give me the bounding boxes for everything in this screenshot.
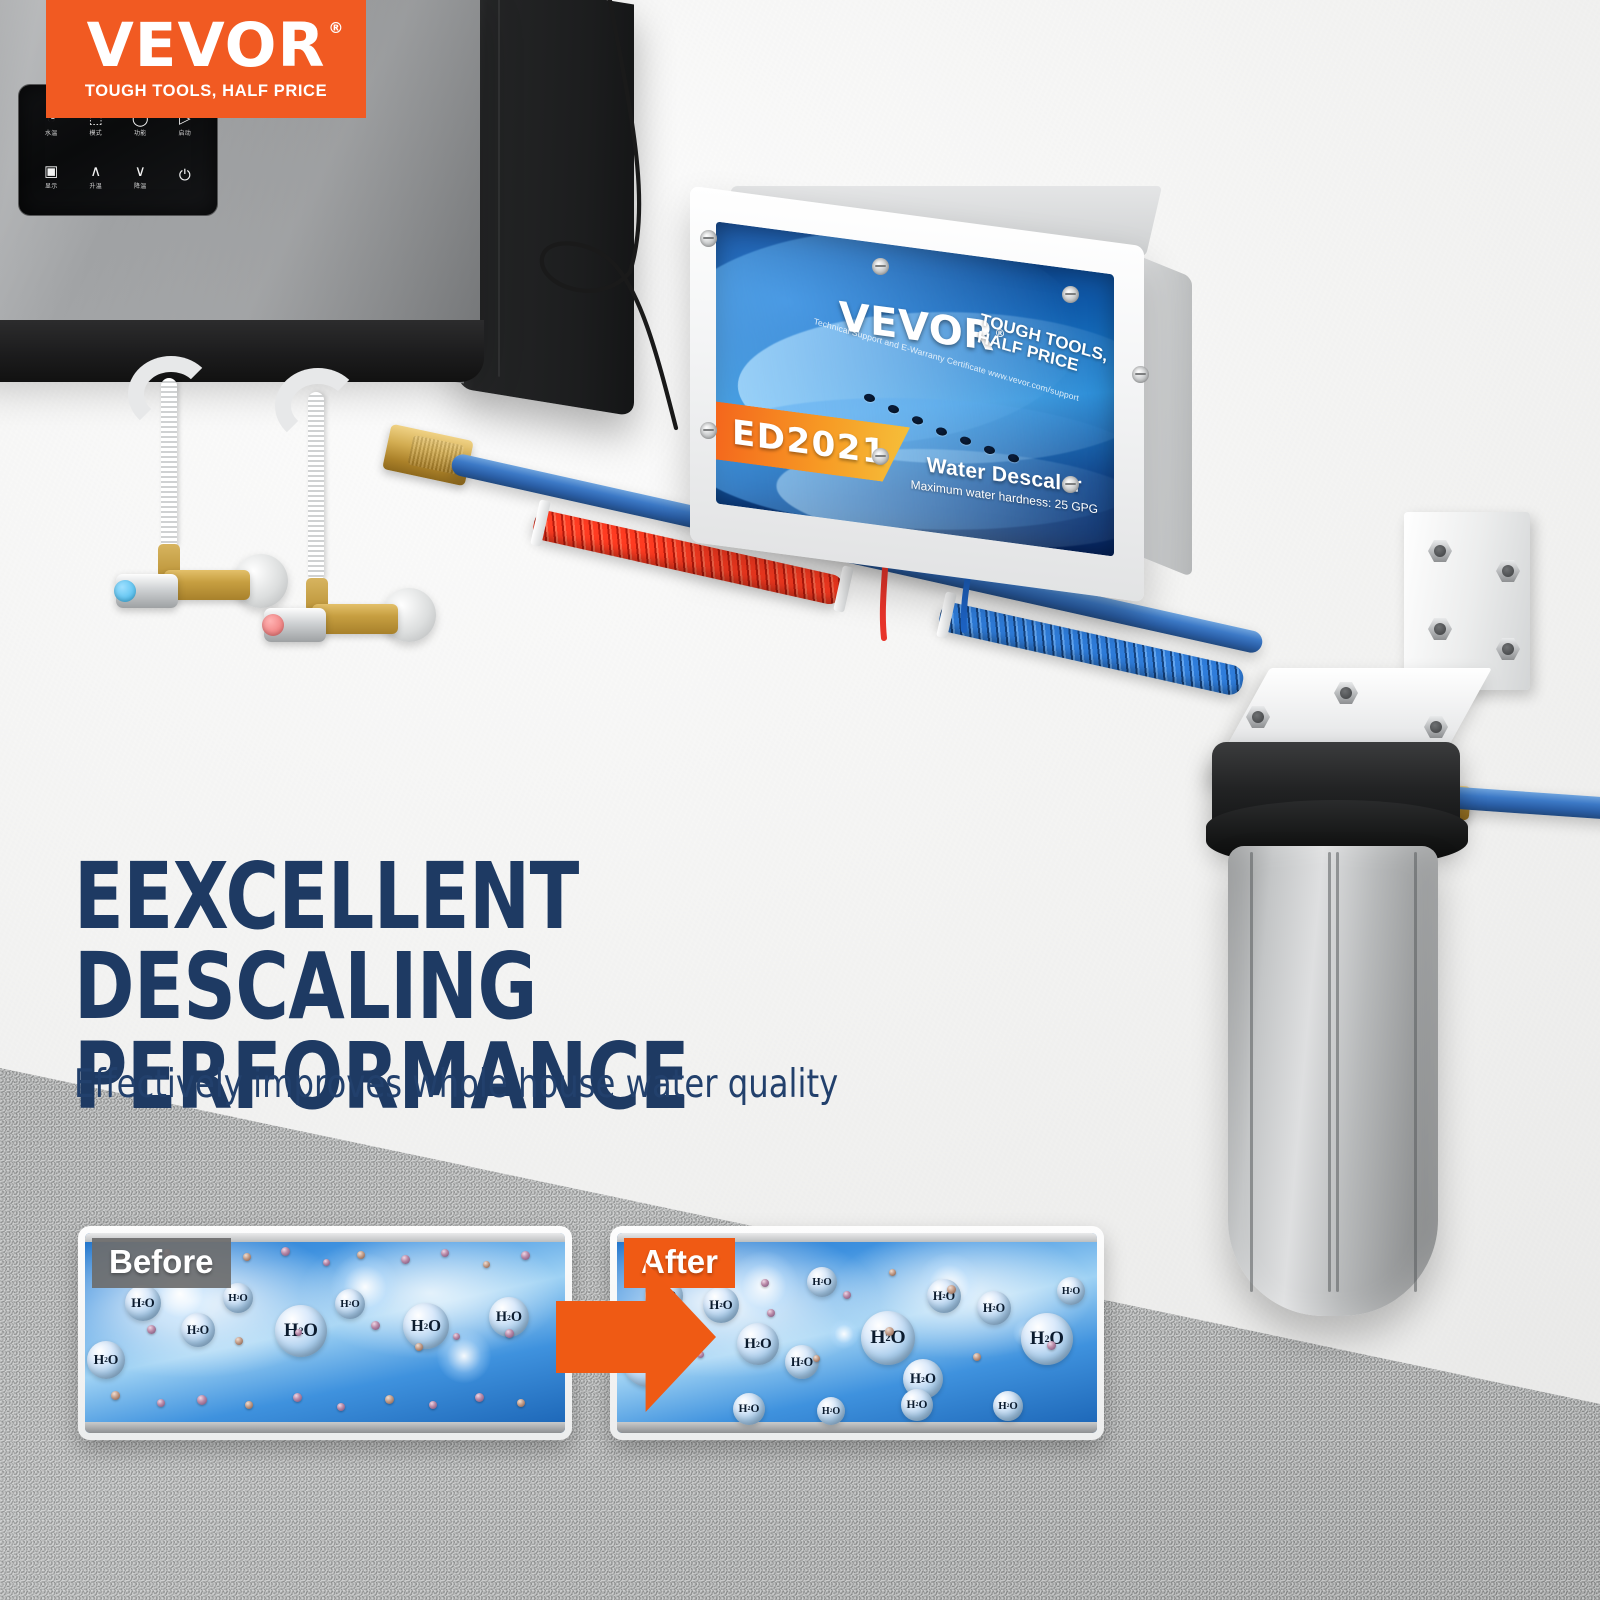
water-molecule: H2O [807,1267,837,1297]
water-molecule: H2O [817,1397,845,1425]
mineral-particle [761,1279,769,1287]
mineral-particle [521,1251,530,1260]
braided-hose-hot [308,392,324,582]
mineral-particle [885,1327,894,1336]
heater-key-label: 显示 [45,181,57,190]
mineral-particle [293,1393,302,1402]
braided-hose-cold [161,378,177,550]
before-pipe-bottom-edge [85,1422,565,1433]
mineral-particle [429,1401,437,1409]
heater-key-label: 水温 [45,128,57,137]
water-molecule: H2O [927,1279,961,1313]
water-molecule: H2O [335,1289,365,1319]
mineral-particle [281,1247,290,1256]
mineral-particle [973,1353,981,1361]
mineral-particle [767,1309,775,1317]
water-molecule: H2O [785,1345,819,1379]
heater-key-glyph-icon: ▣ [44,164,58,179]
mineral-particle [889,1269,896,1276]
heater-key-glyph-icon: ∧ [90,164,101,179]
heater-key-5[interactable]: ∧升温 [74,150,119,203]
heater-key-glyph-icon: ⏻ [179,168,191,183]
mineral-particle [385,1395,394,1404]
heater-key-7[interactable]: ⏻ [163,150,208,203]
mineral-particle [157,1399,165,1407]
mineral-particle [441,1249,449,1257]
mineral-particle [1047,1341,1056,1350]
mineral-particle [453,1333,460,1340]
vevor-logo: VEVOR® TOUGH TOOLS, HALF PRICE [46,0,366,118]
mineral-particle [371,1321,380,1330]
water-descaler-unit: VEVOR® TOUGH TOOLS, HALF PRICE Technical… [686,186,1178,594]
heater-key-6[interactable]: ∨降温 [118,150,163,203]
heater-key-label: 升温 [90,181,102,190]
logo-wordmark: VEVOR® [87,17,326,76]
water-molecule: H2O [403,1303,449,1349]
product-marketing-image: ◔水温⬚模式◯功能▷启动▣显示∧升温∨降温⏻ [0,0,1600,1600]
mineral-particle [197,1395,207,1405]
water-molecule: H2O [125,1285,161,1321]
water-molecule: H2O [737,1323,779,1365]
mineral-particle [947,1285,956,1294]
mineral-particle [111,1391,120,1400]
valve-cap-hot-red [262,614,284,636]
water-molecule: H2O [703,1287,739,1323]
heater-key-label: 降温 [134,181,146,190]
mineral-particle [235,1337,243,1345]
heater-key-glyph-icon: ∨ [135,164,146,179]
descaler-front-label: VEVOR® TOUGH TOOLS, HALF PRICE Technical… [716,221,1114,556]
water-molecule: H2O [1057,1277,1085,1305]
logo-tagline: TOUGH TOOLS, HALF PRICE [85,82,327,101]
water-molecule: H2O [977,1291,1011,1325]
headline-line-1: EEXCELLENT DESCALING [74,843,579,1040]
heater-key-4[interactable]: ▣显示 [29,150,74,203]
bracket-vertical-plate [1404,512,1530,690]
water-molecule: H2O [861,1311,915,1365]
water-molecule: H2O [1021,1313,1073,1365]
mineral-particle [505,1329,514,1338]
water-molecule: H2O [901,1389,933,1421]
heater-bottom-cap [0,320,484,382]
mineral-particle [357,1251,365,1259]
mineral-particle [415,1343,423,1351]
mineral-particle [475,1393,484,1402]
valve-cap-cold-blue [114,580,136,602]
water-molecule: H2O [87,1341,125,1379]
filter-bowl-housing [1228,846,1438,1316]
before-badge: Before [92,1238,231,1288]
heater-key-label: 模式 [90,128,102,137]
heater-key-label: 功能 [134,128,146,137]
mineral-particle [243,1253,251,1261]
page-subtitle: Effectively improves whole house water q… [74,1062,838,1107]
mineral-particle [517,1399,525,1407]
mineral-particle [483,1261,490,1268]
after-pipe-bottom-edge [617,1422,1097,1433]
water-molecule: H2O [181,1313,215,1347]
water-molecule: H2O [993,1391,1023,1421]
mineral-particle [323,1259,330,1266]
mineral-particle [295,1329,302,1336]
mineral-particle [337,1403,345,1411]
mineral-particle [147,1325,156,1334]
mineral-particle [813,1355,820,1362]
mineral-particle [245,1401,253,1409]
mineral-particle [401,1255,410,1264]
after-badge: After [624,1238,735,1288]
mineral-particle [843,1291,851,1299]
water-molecule: H2O [733,1393,765,1425]
heater-key-label: 启动 [179,128,191,137]
before-comparison-panel: H2OH2OH2OH2OH2OH2OH2OH2O Before [78,1226,572,1440]
